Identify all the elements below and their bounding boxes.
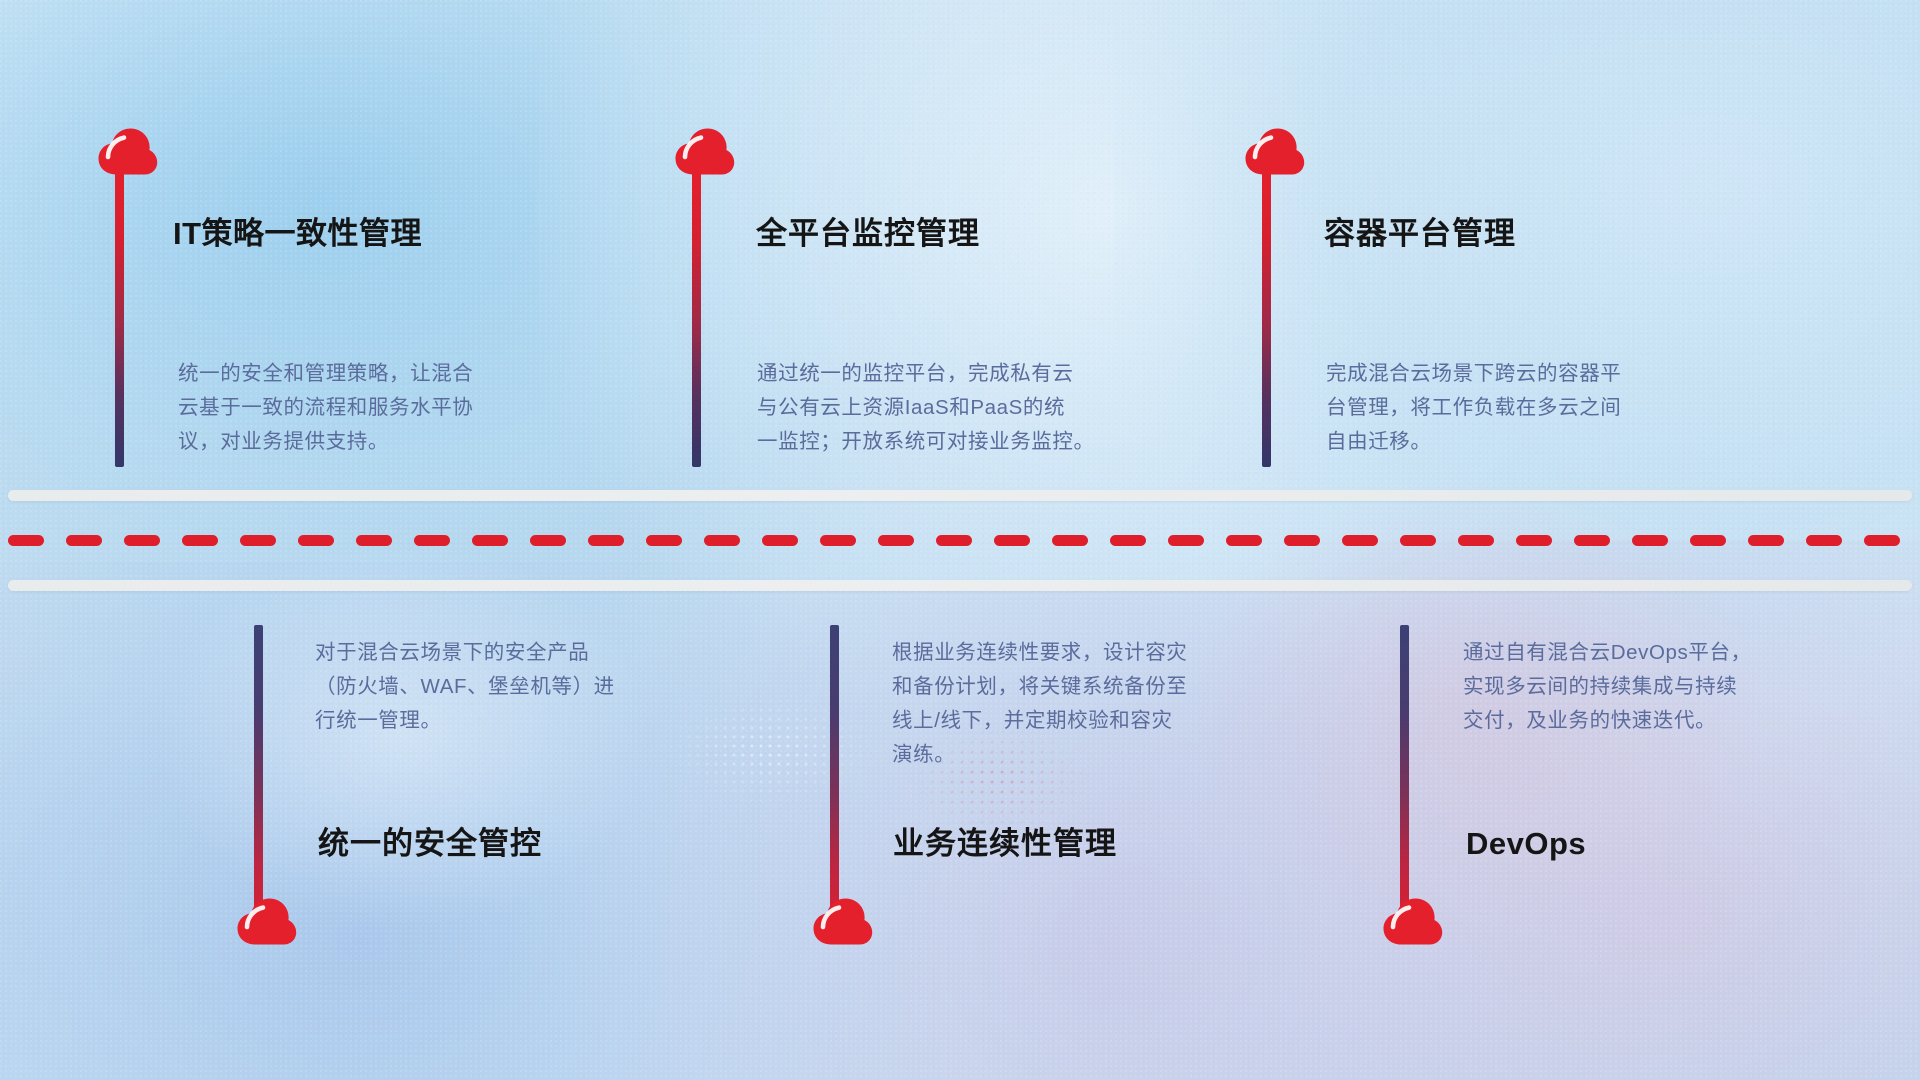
body-line: 通过自有混合云DevOps平台， (1463, 636, 1803, 670)
body-line: 和备份计划，将关键系统备份至 (892, 670, 1232, 704)
connector-stem-container-platform-management (1262, 172, 1271, 467)
divider-dash (298, 535, 334, 546)
connector-stem-it-policy-consistency (115, 172, 124, 467)
column-body-container-platform-management: 完成混合云场景下跨云的容器平台管理，将工作负载在多云之间自由迁移。 (1326, 357, 1666, 459)
divider-dash (1226, 535, 1262, 546)
column-body-it-policy-consistency: 统一的安全和管理策略，让混合云基于一致的流程和服务水平协议，对业务提供支持。 (178, 357, 518, 459)
divider-dash (1342, 535, 1378, 546)
connector-stem-full-platform-monitoring (692, 172, 701, 467)
body-line: 云基于一致的流程和服务水平协 (178, 391, 518, 425)
section-divider (0, 490, 1920, 590)
divider-dash (762, 535, 798, 546)
body-line: 交付，及业务的快速迭代。 (1463, 704, 1803, 738)
cloud-icon (811, 898, 873, 946)
divider-dash (936, 535, 972, 546)
divider-dash (356, 535, 392, 546)
divider-dash (66, 535, 102, 546)
divider-dash (820, 535, 856, 546)
divider-dash (994, 535, 1030, 546)
body-line: 实现多云间的持续集成与持续 (1463, 670, 1803, 704)
cloud-icon (235, 898, 297, 946)
divider-dash (878, 535, 914, 546)
divider-rule-bottom (8, 580, 1912, 591)
divider-dash (8, 535, 44, 546)
cloud-icon (96, 128, 158, 176)
body-line: 议，对业务提供支持。 (178, 425, 518, 459)
column-body-business-continuity-management: 根据业务连续性要求，设计容灾和备份计划，将关键系统备份至线上/线下，并定期校验和… (892, 636, 1232, 772)
column-title-devops: DevOps (1466, 825, 1586, 862)
connector-stem-devops (1400, 625, 1409, 920)
body-line: 行统一管理。 (315, 704, 655, 738)
connector-stem-business-continuity-management (830, 625, 839, 920)
divider-dash (530, 535, 566, 546)
divider-dash (1574, 535, 1610, 546)
body-line: 通过统一的监控平台，完成私有云 (757, 357, 1097, 391)
cloud-icon (673, 128, 735, 176)
divider-dash (124, 535, 160, 546)
cloud-icon (1243, 128, 1305, 176)
divider-dash (1110, 535, 1146, 546)
body-line: 根据业务连续性要求，设计容灾 (892, 636, 1232, 670)
divider-dash (1284, 535, 1320, 546)
divider-dash (1806, 535, 1842, 546)
body-line: 演练。 (892, 738, 1232, 772)
divider-rule-top (8, 490, 1912, 501)
background-dot-cluster-light (660, 690, 880, 810)
connector-stem-unified-security-control (254, 625, 263, 920)
column-body-unified-security-control: 对于混合云场景下的安全产品（防火墙、WAF、堡垒机等）进行统一管理。 (315, 636, 655, 738)
divider-dash (704, 535, 740, 546)
divider-dash (1052, 535, 1088, 546)
divider-dash (1516, 535, 1552, 546)
divider-dash (1168, 535, 1204, 546)
cloud-icon (1381, 898, 1443, 946)
column-title-full-platform-monitoring: 全平台监控管理 (756, 215, 980, 252)
divider-dashed-line (0, 535, 1920, 546)
divider-dash (414, 535, 450, 546)
divider-dash (1748, 535, 1784, 546)
body-line: 对于混合云场景下的安全产品 (315, 636, 655, 670)
body-line: 一监控；开放系统可对接业务监控。 (757, 425, 1097, 459)
divider-dash (1458, 535, 1494, 546)
divider-dash (240, 535, 276, 546)
column-title-it-policy-consistency: IT策略一致性管理 (173, 215, 422, 252)
divider-dash (1690, 535, 1726, 546)
divider-dash (1632, 535, 1668, 546)
body-line: 完成混合云场景下跨云的容器平 (1326, 357, 1666, 391)
column-body-full-platform-monitoring: 通过统一的监控平台，完成私有云与公有云上资源IaaS和PaaS的统一监控；开放系… (757, 357, 1097, 459)
body-line: （防火墙、WAF、堡垒机等）进 (315, 670, 655, 704)
column-title-unified-security-control: 统一的安全管控 (318, 825, 542, 862)
body-line: 与公有云上资源IaaS和PaaS的统 (757, 391, 1097, 425)
divider-dash (588, 535, 624, 546)
column-title-container-platform-management: 容器平台管理 (1324, 215, 1516, 252)
column-title-business-continuity-management: 业务连续性管理 (893, 825, 1117, 862)
column-body-devops: 通过自有混合云DevOps平台，实现多云间的持续集成与持续交付，及业务的快速迭代… (1463, 636, 1803, 738)
body-line: 线上/线下，并定期校验和容灾 (892, 704, 1232, 738)
body-line: 自由迁移。 (1326, 425, 1666, 459)
body-line: 台管理，将工作负载在多云之间 (1326, 391, 1666, 425)
divider-dash (472, 535, 508, 546)
divider-dash (182, 535, 218, 546)
body-line: 统一的安全和管理策略，让混合 (178, 357, 518, 391)
divider-dash (646, 535, 682, 546)
divider-dash (1400, 535, 1436, 546)
divider-dash (1864, 535, 1900, 546)
